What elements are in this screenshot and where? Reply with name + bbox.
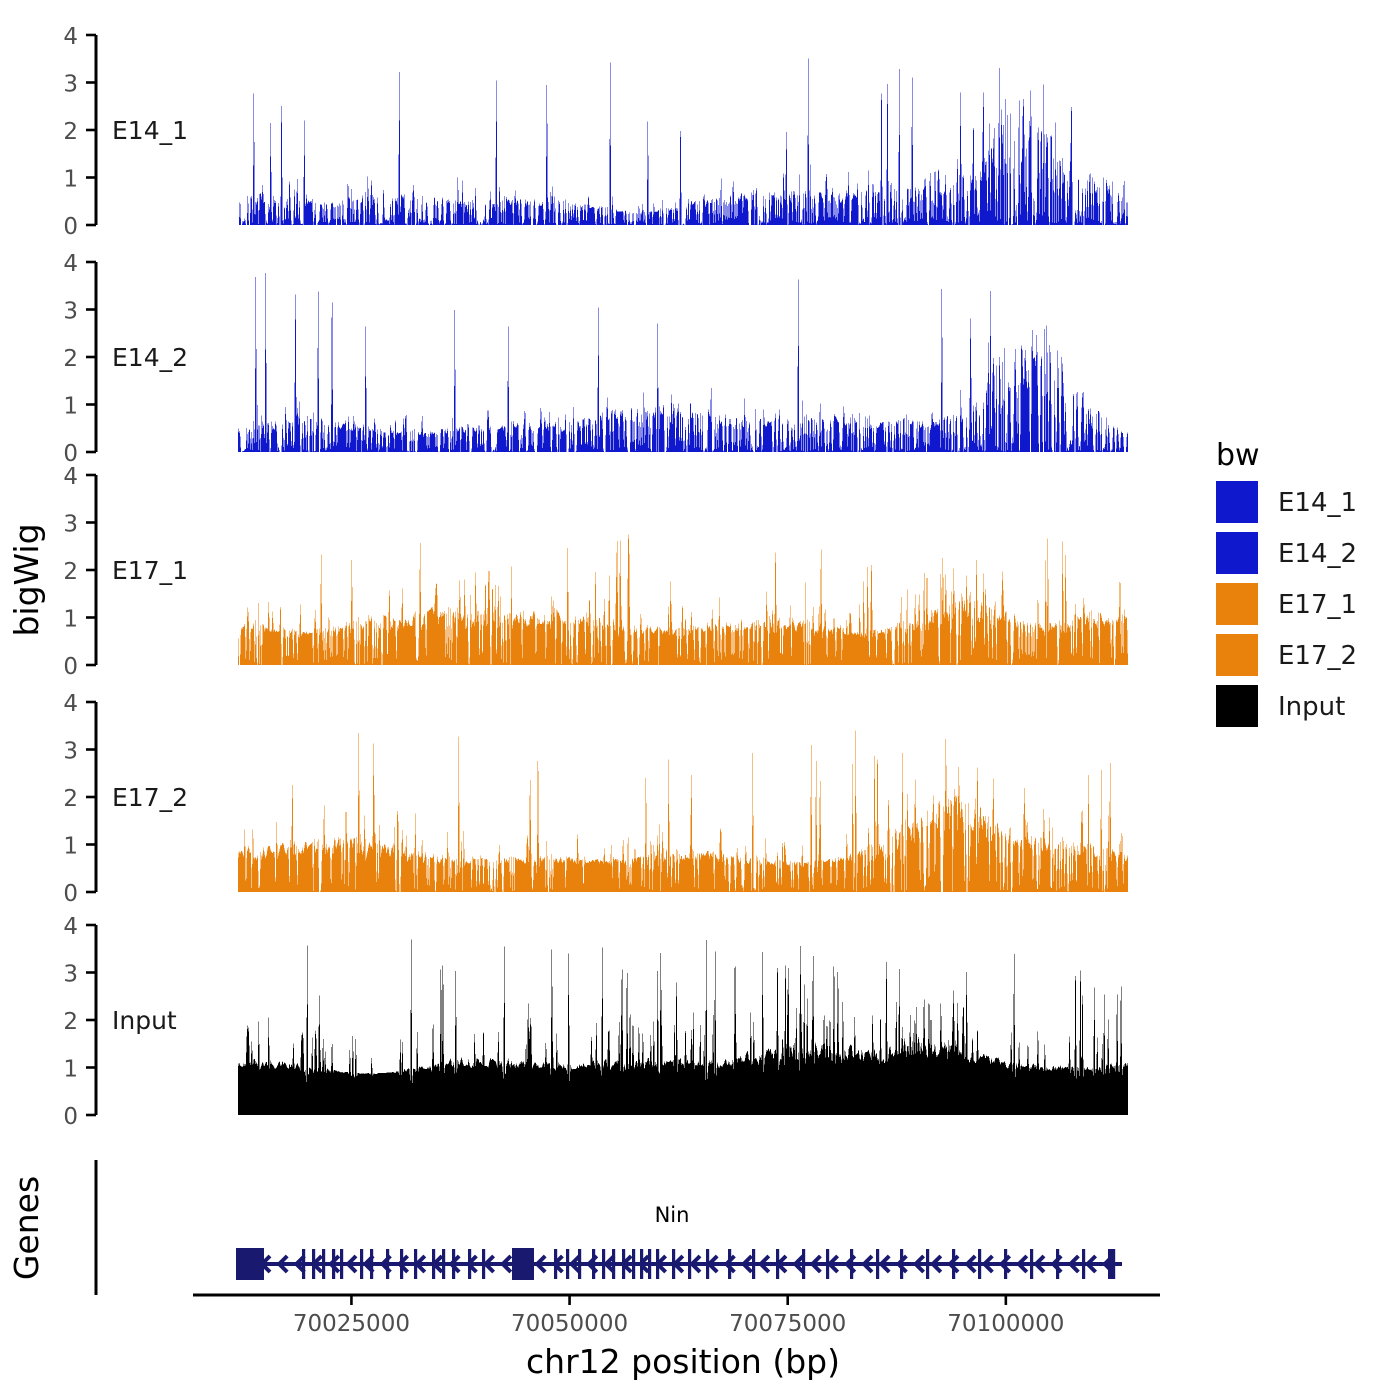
- legend-title: bw: [1216, 438, 1260, 473]
- track-panel-e17_2: 01234E17_2: [63, 691, 1128, 907]
- y-tick-label-e17_1-4: 4: [63, 464, 78, 490]
- y-tick-label-e14_1-2: 2: [63, 119, 78, 145]
- coverage-area-e17_1: [238, 532, 1128, 665]
- y-tick-label-e17_1-0: 0: [63, 654, 78, 680]
- x-axis-title: chr12 position (bp): [526, 1342, 840, 1381]
- gene-exon-tick: [656, 1249, 659, 1279]
- x-tick-label-70025000: 70025000: [293, 1311, 410, 1337]
- y-tick-label-e17_2-0: 0: [63, 881, 78, 907]
- gene-exon-tick: [802, 1249, 805, 1279]
- gene-exon-tick: [648, 1249, 651, 1279]
- gene-exon-tick: [592, 1249, 595, 1279]
- gene-exon-tick: [1112, 1249, 1115, 1279]
- gene-exon-tick: [468, 1249, 471, 1279]
- y-tick-label-e17_2-4: 4: [63, 691, 78, 717]
- legend-swatch-e14_2[interactable]: [1216, 532, 1258, 574]
- y-tick-label-e17_2-2: 2: [63, 786, 78, 812]
- gene-exon-tick: [876, 1249, 879, 1279]
- legend-label-e14_1: E14_1: [1278, 488, 1357, 518]
- y-tick-label-input-3: 3: [63, 962, 78, 988]
- x-axis: 70025000700500007007500070100000chr12 po…: [193, 1295, 1160, 1381]
- y-axis-title-genes: Genes: [7, 1176, 46, 1280]
- legend-swatch-e17_1[interactable]: [1216, 583, 1258, 625]
- x-tick-label-70050000: 70050000: [511, 1311, 628, 1337]
- gene-exon-tick: [612, 1249, 615, 1279]
- y-tick-label-e17_2-3: 3: [63, 739, 78, 765]
- gene-exon-tick: [672, 1249, 675, 1279]
- gene-exon-tick: [452, 1249, 455, 1279]
- gene-panel: Nin: [96, 1160, 1122, 1295]
- legend-swatch-e14_1[interactable]: [1216, 481, 1258, 523]
- legend-label-e17_2: E17_2: [1278, 641, 1357, 671]
- gene-exon-tick: [622, 1249, 625, 1279]
- gene-exon-tick: [370, 1249, 373, 1279]
- gene-exon-tick: [926, 1249, 929, 1279]
- y-tick-label-e17_1-1: 1: [63, 607, 78, 633]
- coverage-area-e17_2: [238, 731, 1128, 893]
- gene-exon-tick: [442, 1249, 445, 1279]
- coverage-area-e14_1: [238, 54, 1128, 225]
- track-label-e17_2: E17_2: [112, 783, 188, 812]
- x-tick-label-70075000: 70075000: [729, 1311, 846, 1337]
- y-tick-label-e17_1-3: 3: [63, 512, 78, 538]
- legend-item-input[interactable]: Input: [1216, 685, 1345, 727]
- y-tick-label-e17_1-2: 2: [63, 559, 78, 585]
- y-tick-label-input-0: 0: [63, 1104, 78, 1130]
- gene-exon-tick: [414, 1249, 417, 1279]
- track-label-e14_1: E14_1: [112, 116, 188, 145]
- gene-exon-block-2: [512, 1248, 534, 1280]
- gene-exon-tick: [706, 1249, 709, 1279]
- legend-swatch-e17_2[interactable]: [1216, 634, 1258, 676]
- genome-browser-figure: 01234E14_101234E14_201234E17_101234E17_2…: [0, 0, 1400, 1400]
- y-axis-title-bigwig: bigWig: [7, 523, 46, 636]
- gene-exon-tick: [1082, 1249, 1085, 1279]
- coverage-area-input: [238, 939, 1128, 1115]
- legend-label-e14_2: E14_2: [1278, 539, 1357, 569]
- legend-item-e17_1[interactable]: E17_1: [1216, 583, 1357, 625]
- y-tick-label-e14_1-4: 4: [63, 24, 78, 50]
- y-tick-label-input-2: 2: [63, 1009, 78, 1035]
- gene-exon-tick: [386, 1249, 389, 1279]
- gene-exon-tick: [1056, 1249, 1059, 1279]
- gene-name-label: Nin: [655, 1203, 690, 1227]
- legend-item-e14_1[interactable]: E14_1: [1216, 481, 1357, 523]
- legend-swatch-input[interactable]: [1216, 685, 1258, 727]
- gene-exon-tick: [322, 1249, 325, 1279]
- y-tick-label-e14_1-0: 0: [63, 214, 78, 240]
- figure-root: 01234E14_101234E14_201234E17_101234E17_2…: [0, 0, 1400, 1400]
- gene-exon-tick: [900, 1249, 903, 1279]
- gene-exon-tick: [312, 1249, 315, 1279]
- gene-exon-tick: [566, 1249, 569, 1279]
- track-panel-e14_1: 01234E14_1: [63, 24, 1128, 240]
- gene-exon-tick: [400, 1249, 403, 1279]
- gene-exon-tick: [688, 1249, 691, 1279]
- coverage-area-e14_2: [238, 267, 1128, 452]
- track-panel-e14_2: 01234E14_2: [63, 251, 1128, 467]
- track-label-e14_2: E14_2: [112, 343, 188, 372]
- gene-exon-tick: [826, 1249, 829, 1279]
- gene-exon-tick: [632, 1249, 635, 1279]
- y-tick-label-e17_2-1: 1: [63, 834, 78, 860]
- gene-exon-block-1: [236, 1248, 264, 1280]
- gene-exon-tick: [776, 1249, 779, 1279]
- y-tick-label-e14_2-4: 4: [63, 251, 78, 277]
- legend: bwE14_1E14_2E17_1E17_2Input: [1216, 438, 1357, 727]
- gene-exon-tick: [432, 1249, 435, 1279]
- y-tick-label-e14_2-2: 2: [63, 346, 78, 372]
- gene-exon-tick: [640, 1249, 643, 1279]
- track-panel-e17_1: 01234E17_1: [63, 464, 1128, 680]
- gene-exon-tick: [360, 1249, 363, 1279]
- y-tick-label-input-1: 1: [63, 1057, 78, 1083]
- gene-exon-tick: [978, 1249, 981, 1279]
- gene-exon-tick: [952, 1249, 955, 1279]
- gene-exon-tick: [482, 1249, 485, 1279]
- y-tick-label-e14_2-3: 3: [63, 299, 78, 325]
- y-tick-label-e14_2-1: 1: [63, 394, 78, 420]
- gene-exon-tick: [302, 1249, 305, 1279]
- gene-exon-tick: [602, 1249, 605, 1279]
- legend-item-e17_2[interactable]: E17_2: [1216, 634, 1357, 676]
- track-panel-input: 01234Input: [63, 914, 1128, 1130]
- gene-exon-tick: [752, 1249, 755, 1279]
- gene-exon-tick: [1030, 1249, 1033, 1279]
- y-tick-label-e14_1-3: 3: [63, 72, 78, 98]
- gene-exon-tick: [340, 1249, 343, 1279]
- gene-exon-tick: [1004, 1249, 1007, 1279]
- track-label-input: Input: [112, 1006, 177, 1035]
- gene-exon-tick: [332, 1249, 335, 1279]
- legend-label-e17_1: E17_1: [1278, 590, 1357, 620]
- y-tick-label-e14_1-1: 1: [63, 167, 78, 193]
- gene-exon-tick: [850, 1249, 853, 1279]
- gene-exon-tick: [554, 1249, 557, 1279]
- legend-label-input: Input: [1278, 692, 1345, 722]
- gene-exon-tick: [578, 1249, 581, 1279]
- gene-exon-tick: [728, 1249, 731, 1279]
- track-label-e17_1: E17_1: [112, 556, 188, 585]
- x-tick-label-70100000: 70100000: [947, 1311, 1064, 1337]
- y-tick-label-input-4: 4: [63, 914, 78, 940]
- legend-item-e14_2[interactable]: E14_2: [1216, 532, 1357, 574]
